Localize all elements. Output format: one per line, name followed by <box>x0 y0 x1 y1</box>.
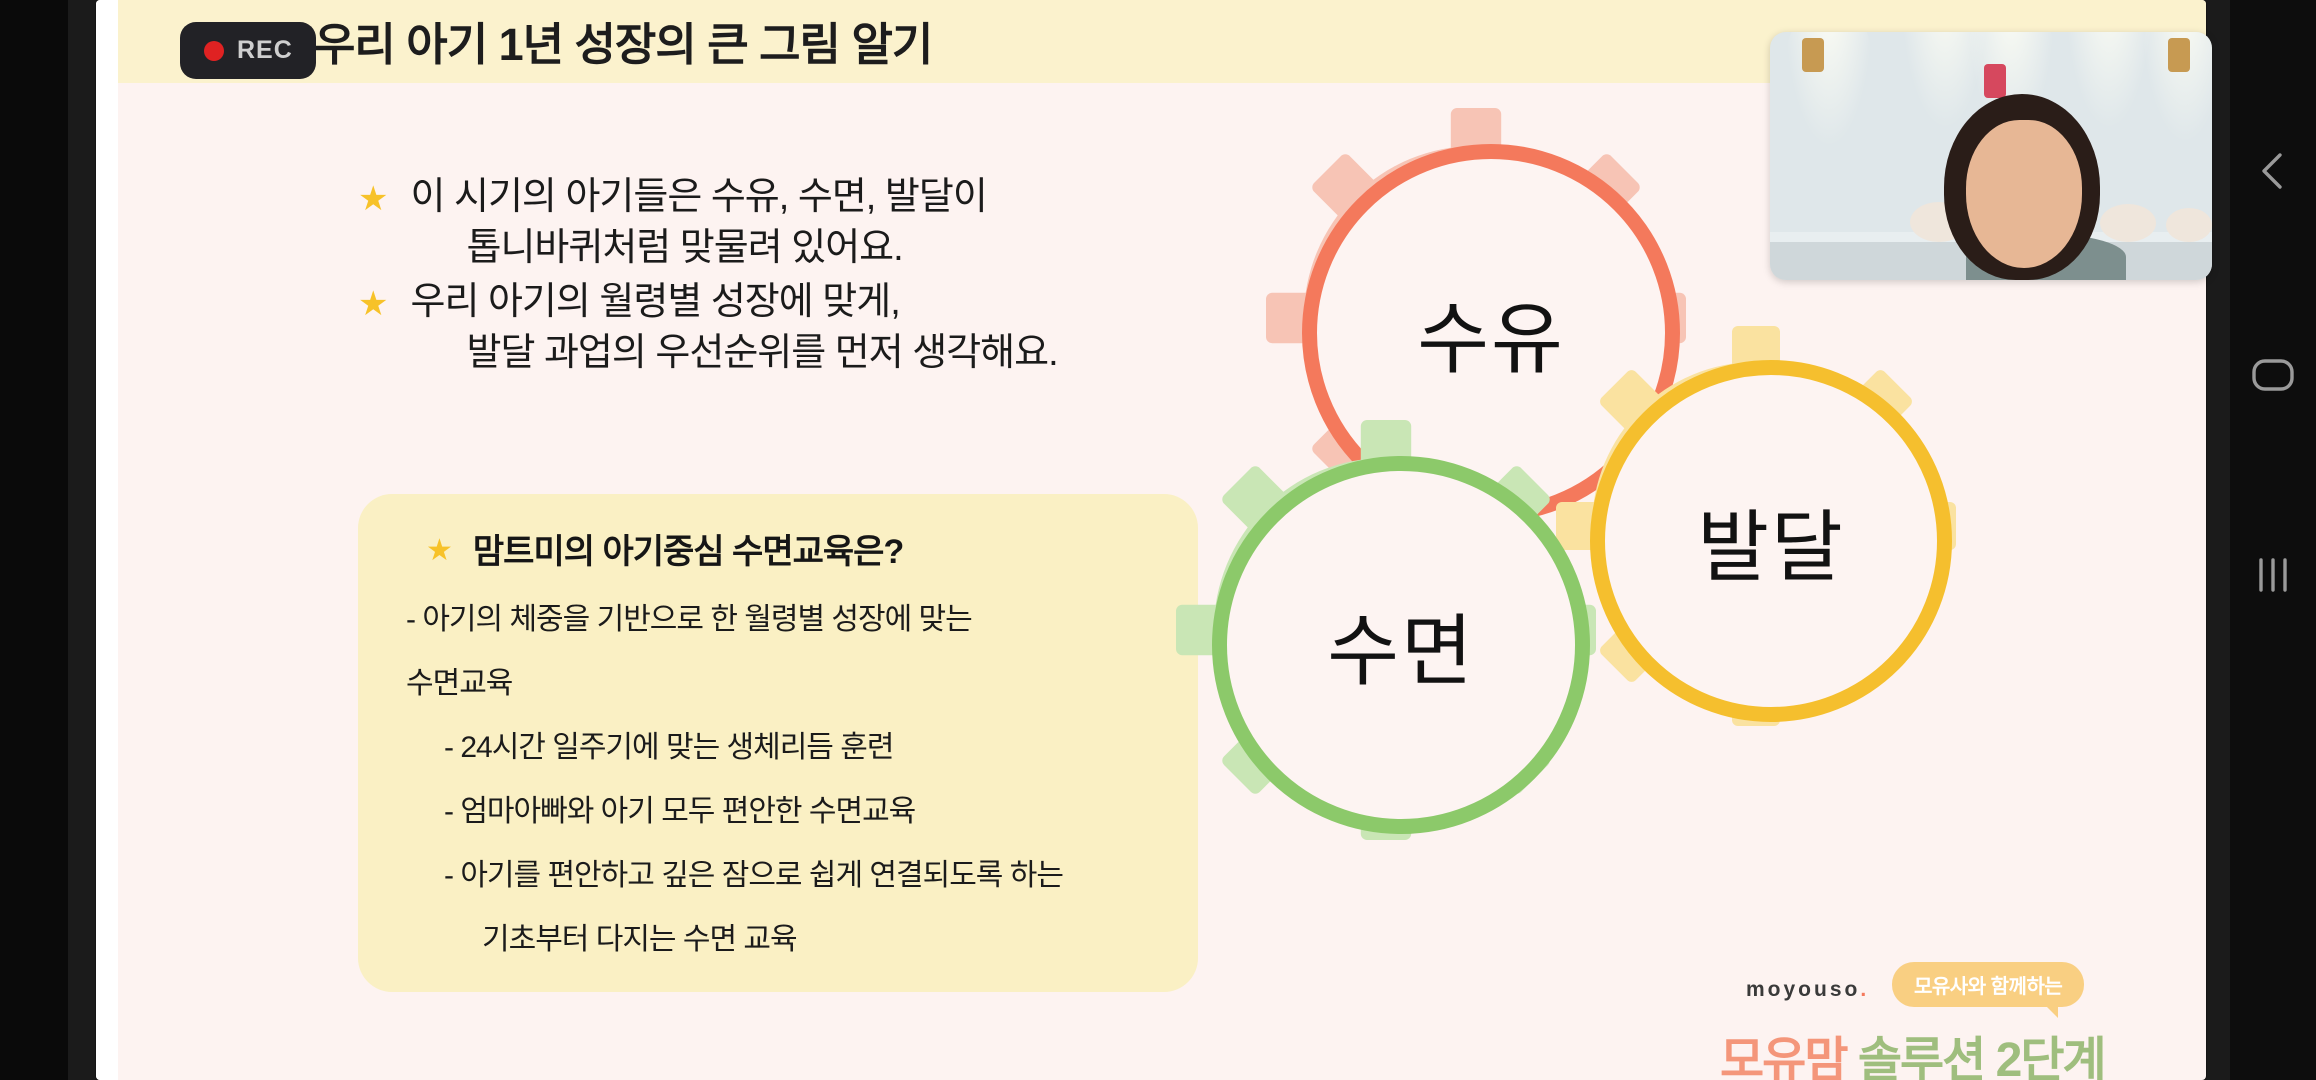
info-box-heading-text: 맘트미의 아기중심 수면교육은? <box>473 524 903 573</box>
gear-ring: 수면 <box>1212 456 1590 834</box>
brand-wordmark: moyouso. <box>1746 978 1869 1002</box>
bullet-line: 톱니바퀴처럼 맞물려 있어요. <box>466 227 902 269</box>
page-title: 우리 아기 1년 성장의 큰 그림 알기 <box>314 8 932 73</box>
bullet-list: ★ 이 시기의 아기들은 수유, 수면, 발달이 톱니바퀴처럼 맞물려 있어요.… <box>358 172 1178 382</box>
bullet-text: 이 시기의 아기들은 수유, 수면, 발달이 톱니바퀴처럼 맞물려 있어요. <box>410 172 986 273</box>
info-box: ★ 맘트미의 아기중심 수면교육은? - 아기의 체중을 기반으로 한 월령별 … <box>358 494 1198 992</box>
bullet-item: ★ 우리 아기의 월령별 성장에 맞게, 발달 과업의 우선순위를 먼저 생각해… <box>358 277 1178 378</box>
bullet-line: 발달 과업의 우선순위를 먼저 생각해요. <box>466 332 1057 374</box>
slide-viewport[interactable]: 우리 아기 1년 성장의 큰 그림 알기 ★ 이 시기의 아기들은 수유, 수면… <box>68 0 2230 1080</box>
chevron-left-icon <box>2256 149 2290 193</box>
info-list-item: 수면교육 <box>406 662 1176 706</box>
decor-object <box>2166 208 2212 242</box>
back-nav-button[interactable] <box>2230 128 2316 214</box>
gear-ring: 발달 <box>1590 360 1952 722</box>
gear-label: 수면 <box>1327 589 1475 701</box>
bullet-line: 우리 아기의 월령별 성장에 맞게, <box>410 281 899 323</box>
recording-badge: REC <box>180 22 316 79</box>
brand-title-part1: 모유맘 <box>1720 1034 1846 1080</box>
recent-apps-nav-button[interactable] <box>2230 532 2316 618</box>
webcam-video-frame <box>1770 32 2212 280</box>
info-list-item: 기초부터 다지는 수면 교육 <box>482 918 1252 962</box>
gear-label: 발달 <box>1697 485 1845 597</box>
brand-logo: moyouso. 모유사와 함께하는 모유맘 솔루션 2단계 <box>1746 952 2146 1080</box>
record-dot-icon <box>204 41 224 61</box>
gear-baldal: 발달 <box>1556 326 1956 726</box>
star-icon: ★ <box>358 287 388 321</box>
star-icon: ★ <box>426 536 453 566</box>
home-nav-button[interactable] <box>2230 332 2316 418</box>
bullet-line: 이 시기의 아기들은 수유, 수면, 발달이 <box>410 176 986 218</box>
ceiling-lamp-icon <box>2168 38 2190 72</box>
device-screen: 우리 아기 1년 성장의 큰 그림 알기 ★ 이 시기의 아기들은 수유, 수면… <box>0 0 2316 1080</box>
brand-title: 모유맘 솔루션 2단계 <box>1720 1020 2105 1080</box>
ceiling-lamp-icon <box>1984 64 2006 98</box>
instructor-face <box>1966 120 2082 268</box>
gear-label: 수유 <box>1417 277 1565 389</box>
recent-apps-bars-icon <box>2252 556 2294 594</box>
info-list-item: - 아기를 편안하고 깊은 잠으로 쉽게 연결되도록 하는 <box>444 854 1214 898</box>
brand-title-part2: 솔루션 2단계 <box>1858 1034 2105 1080</box>
decor-object <box>2100 204 2156 242</box>
home-rounded-square-icon <box>2251 358 2295 392</box>
bullet-text: 우리 아기의 월령별 성장에 맞게, 발달 과업의 우선순위를 먼저 생각해요. <box>410 277 1057 378</box>
bullet-item: ★ 이 시기의 아기들은 수유, 수면, 발달이 톱니바퀴처럼 맞물려 있어요. <box>358 172 1178 273</box>
info-box-heading: ★ 맘트미의 아기중심 수면교육은? <box>426 524 903 573</box>
gear-sumyeon: 수면 <box>1176 420 1596 840</box>
left-bezel <box>0 0 68 1080</box>
star-icon: ★ <box>358 182 388 216</box>
page-gutter <box>96 0 118 1080</box>
instructor-webcam[interactable] <box>1770 32 2212 280</box>
brand-wordmark-text: moyouso <box>1746 978 1860 1001</box>
info-list-item: - 아기의 체중을 기반으로 한 월령별 성장에 맞는 <box>406 598 1176 642</box>
brand-wordmark-dot: . <box>1860 978 1869 1001</box>
recording-badge-label: REC <box>237 36 293 65</box>
info-list-item: - 24시간 일주기에 맞는 생체리듬 훈련 <box>444 726 1214 770</box>
android-navigation-bar <box>2230 0 2316 1080</box>
brand-bubble: 모유사와 함께하는 <box>1892 962 2084 1007</box>
info-list-item: - 엄마아빠와 아기 모두 편안한 수면교육 <box>444 790 1214 834</box>
ceiling-lamp-icon <box>1802 38 1824 72</box>
